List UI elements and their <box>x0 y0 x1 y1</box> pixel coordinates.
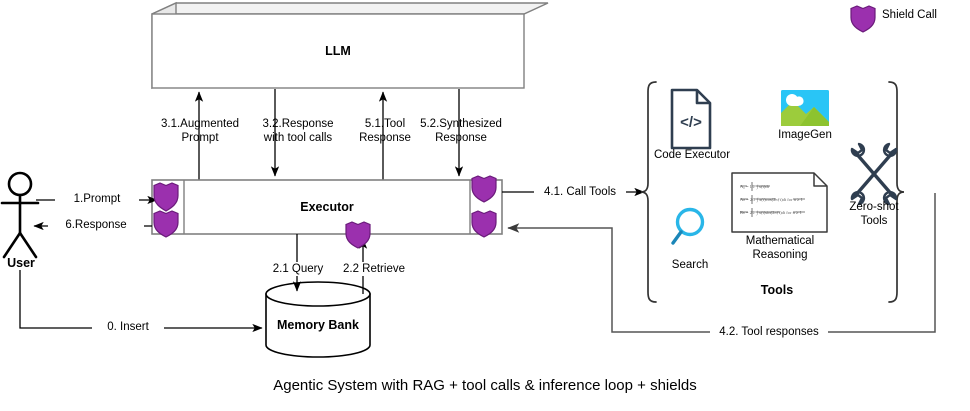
memory-bank-cylinder <box>266 282 370 357</box>
llm-box <box>152 3 548 88</box>
edge-insert-line <box>20 270 262 328</box>
edge-tool-responses-line <box>508 193 935 332</box>
diagram-vector-layer: </> A₀ <box>0 0 970 411</box>
diagram-caption: Agentic System with RAG + tool calls & i… <box>0 377 970 394</box>
shield-icon-executor-memory <box>346 222 370 248</box>
math-document-icon: A₀ = 1/P ∫ x(t)dt Aₙ = 2/P ∫ x(t)cos(2πƒ… <box>732 173 827 232</box>
shield-icon-legend <box>851 6 875 32</box>
image-picture-icon <box>781 90 829 126</box>
crossed-wrenches-icon <box>852 144 896 204</box>
svg-text:</>: </> <box>680 114 702 131</box>
code-document-icon: </> <box>672 90 710 148</box>
user-stick-figure <box>2 173 38 257</box>
tools-left-brace <box>641 82 656 302</box>
diagram-canvas: </> A₀ <box>0 0 970 411</box>
magnifier-icon <box>673 210 703 244</box>
executor-box <box>152 180 502 234</box>
